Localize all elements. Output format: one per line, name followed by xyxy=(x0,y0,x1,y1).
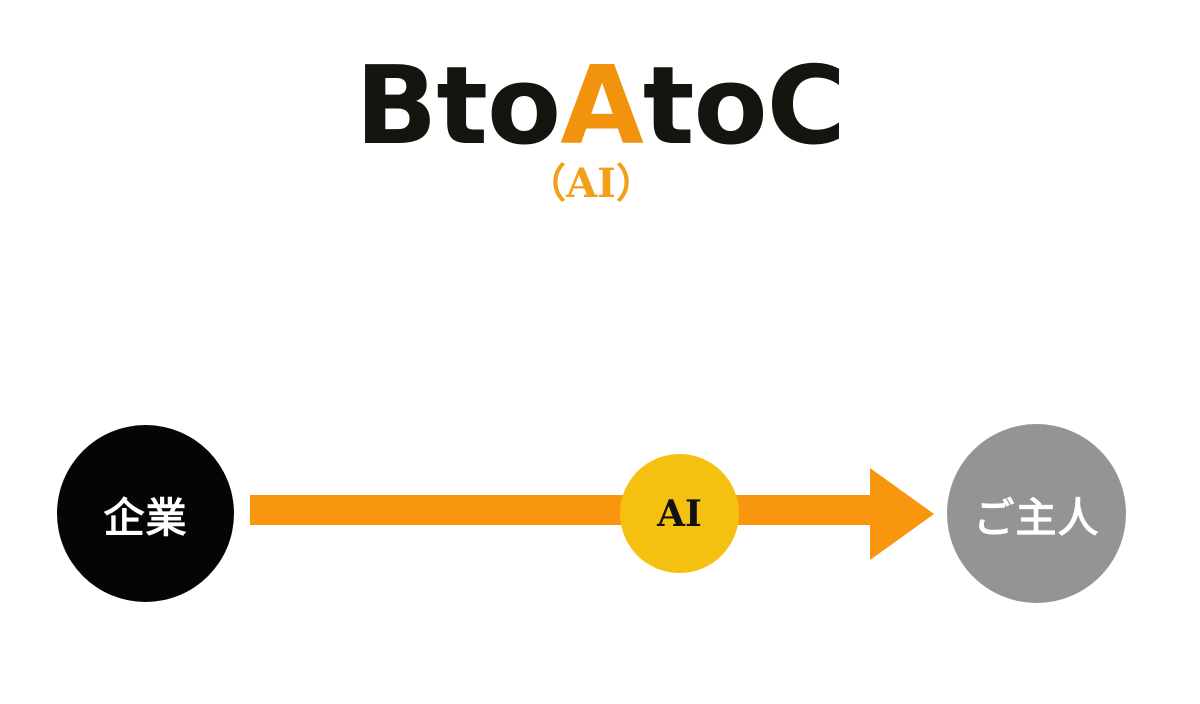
flow-node-master[interactable]: ご主人 xyxy=(947,424,1126,603)
flow-node-ai[interactable]: AI xyxy=(620,454,739,573)
flow-node-company[interactable]: 企業 xyxy=(57,425,234,602)
slide-canvas: BtoAtoC （AI） 企業 AI ご主人 xyxy=(0,0,1200,704)
flow-node-ai-label: AI xyxy=(657,493,702,535)
flow-arrow-icon xyxy=(250,464,934,564)
flow-node-company-label: 企業 xyxy=(104,484,188,544)
flow-node-master-label: ご主人 xyxy=(974,484,1100,544)
flow-diagram: 企業 AI ご主人 xyxy=(0,0,1200,704)
